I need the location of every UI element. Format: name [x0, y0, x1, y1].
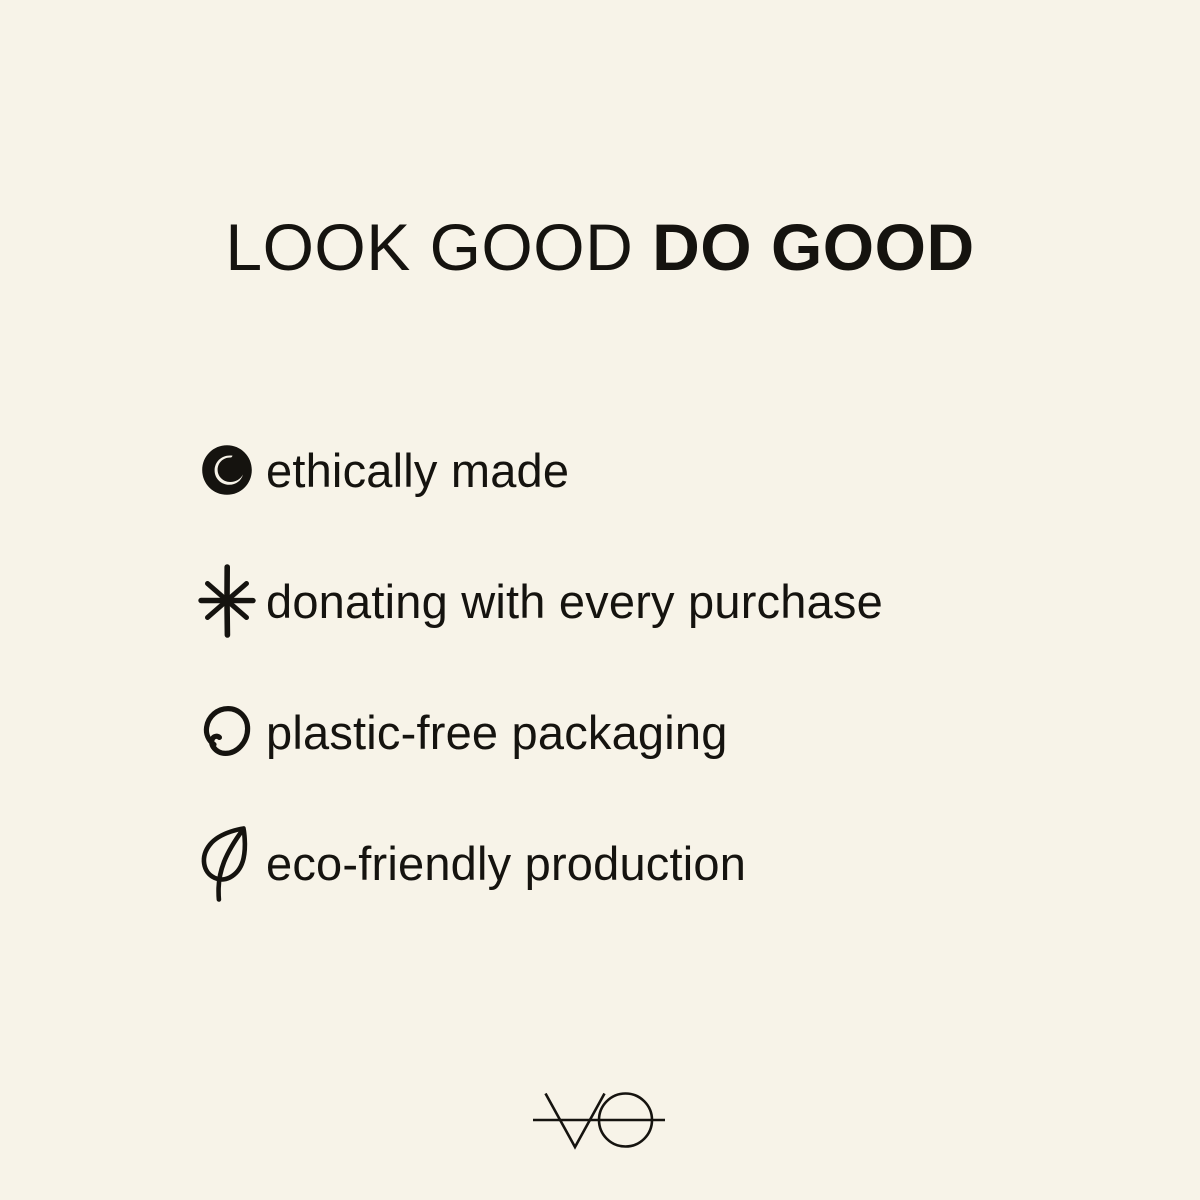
vo-monogram-icon	[525, 1085, 675, 1155]
feature-list: ethically made donating with every pur	[196, 404, 1116, 928]
list-item: eco-friendly production	[196, 797, 1116, 928]
list-item: donating with every purchase	[196, 535, 1116, 666]
list-item-label: donating with every purchase	[258, 578, 883, 625]
poster-canvas: LOOK GOOD DO GOOD ethically made	[0, 0, 1200, 1200]
list-item: ethically made	[196, 404, 1116, 535]
asterisk-star-icon	[196, 566, 258, 636]
list-item-label: ethically made	[258, 447, 569, 494]
page-title-bold: DO GOOD	[652, 210, 975, 284]
spiral-circle-icon	[196, 435, 258, 505]
list-item: plastic-free packaging	[196, 666, 1116, 797]
page-title-light: LOOK GOOD	[225, 210, 652, 284]
page-title: LOOK GOOD DO GOOD	[0, 214, 1200, 280]
brand-logo	[0, 1085, 1200, 1155]
list-item-label: eco-friendly production	[258, 840, 746, 887]
list-item-label: plastic-free packaging	[258, 709, 728, 756]
circle-hook-icon	[196, 697, 258, 767]
leaf-icon	[196, 828, 258, 898]
